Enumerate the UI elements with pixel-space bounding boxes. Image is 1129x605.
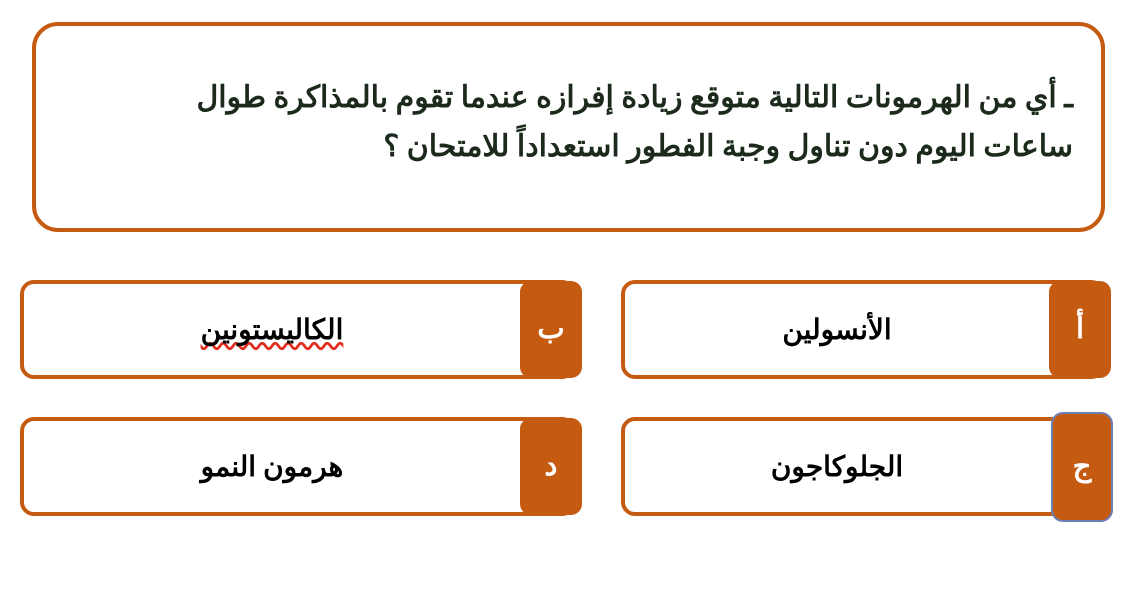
option-b-badge[interactable]: ب [520,281,582,378]
option-a-label: الأنسولين [651,313,1023,347]
option-a-badge[interactable]: أ [1049,281,1111,378]
option-c-body[interactable]: الجلوكاجون ج [621,417,1105,516]
option-d-body[interactable]: هرمون النمو د [20,417,576,516]
option-b-label: الكاليستونين [50,313,494,347]
option-b[interactable]: الكاليستونين ب [20,280,576,379]
option-a-body[interactable]: الأنسولين أ [621,280,1105,379]
option-c-label: الجلوكاجون [651,450,1023,484]
option-d[interactable]: هرمون النمو د [20,417,576,516]
option-d-badge[interactable]: د [520,418,582,515]
option-a[interactable]: الأنسولين أ [621,280,1105,379]
option-d-label: هرمون النمو [50,450,494,484]
option-c[interactable]: الجلوكاجون ج [621,417,1105,516]
question-box: ـ أي من الهرمونات التالية متوقع زيادة إف… [32,22,1105,232]
options-grid: الأنسولين أ الكاليستونين ب الجلوكاجون ج … [0,280,1129,525]
option-b-body[interactable]: الكاليستونين ب [20,280,576,379]
option-c-badge[interactable]: ج [1051,412,1113,522]
question-text: ـ أي من الهرمونات التالية متوقع زيادة إف… [64,74,1073,171]
